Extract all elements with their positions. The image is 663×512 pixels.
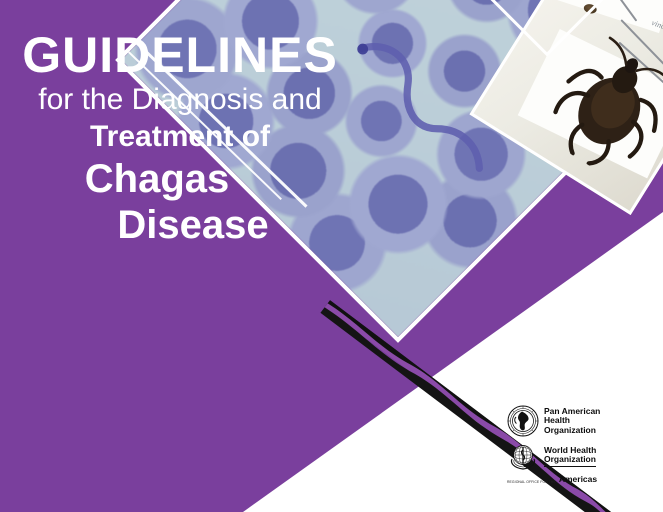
organization-logos: Pan American Health Organization xyxy=(507,405,635,484)
subtitle-chagas: Chagas xyxy=(0,156,360,202)
who-emblem-icon xyxy=(507,440,539,472)
paho-line-3: Organization xyxy=(544,426,600,436)
regional-office-line: REGIONAL OFFICE FOR THE Americas xyxy=(507,475,635,484)
chagas-guidelines-cover: vinchuca GUIDELINES for the Diagno xyxy=(0,0,663,512)
paho-logo-text: Pan American Health Organization xyxy=(544,407,600,436)
regional-office-microtext: REGIONAL OFFICE FOR THE xyxy=(507,480,556,484)
cover-title-block: GUIDELINES for the Diagnosis and Treatme… xyxy=(0,28,360,248)
who-logo-text: World Health Organization xyxy=(544,446,596,467)
who-logo: World Health Organization xyxy=(507,440,635,472)
subtitle-disease: Disease xyxy=(0,202,360,248)
page-title: GUIDELINES xyxy=(0,28,360,82)
paho-logo: Pan American Health Organization xyxy=(507,405,635,437)
subtitle-treatment: Treatment of xyxy=(0,118,360,156)
paho-globe-icon xyxy=(507,405,539,437)
subtitle-diagnosis: for the Diagnosis and xyxy=(0,82,360,118)
regional-office-americas: Americas xyxy=(559,475,597,484)
who-line-2: Organization xyxy=(544,455,596,465)
